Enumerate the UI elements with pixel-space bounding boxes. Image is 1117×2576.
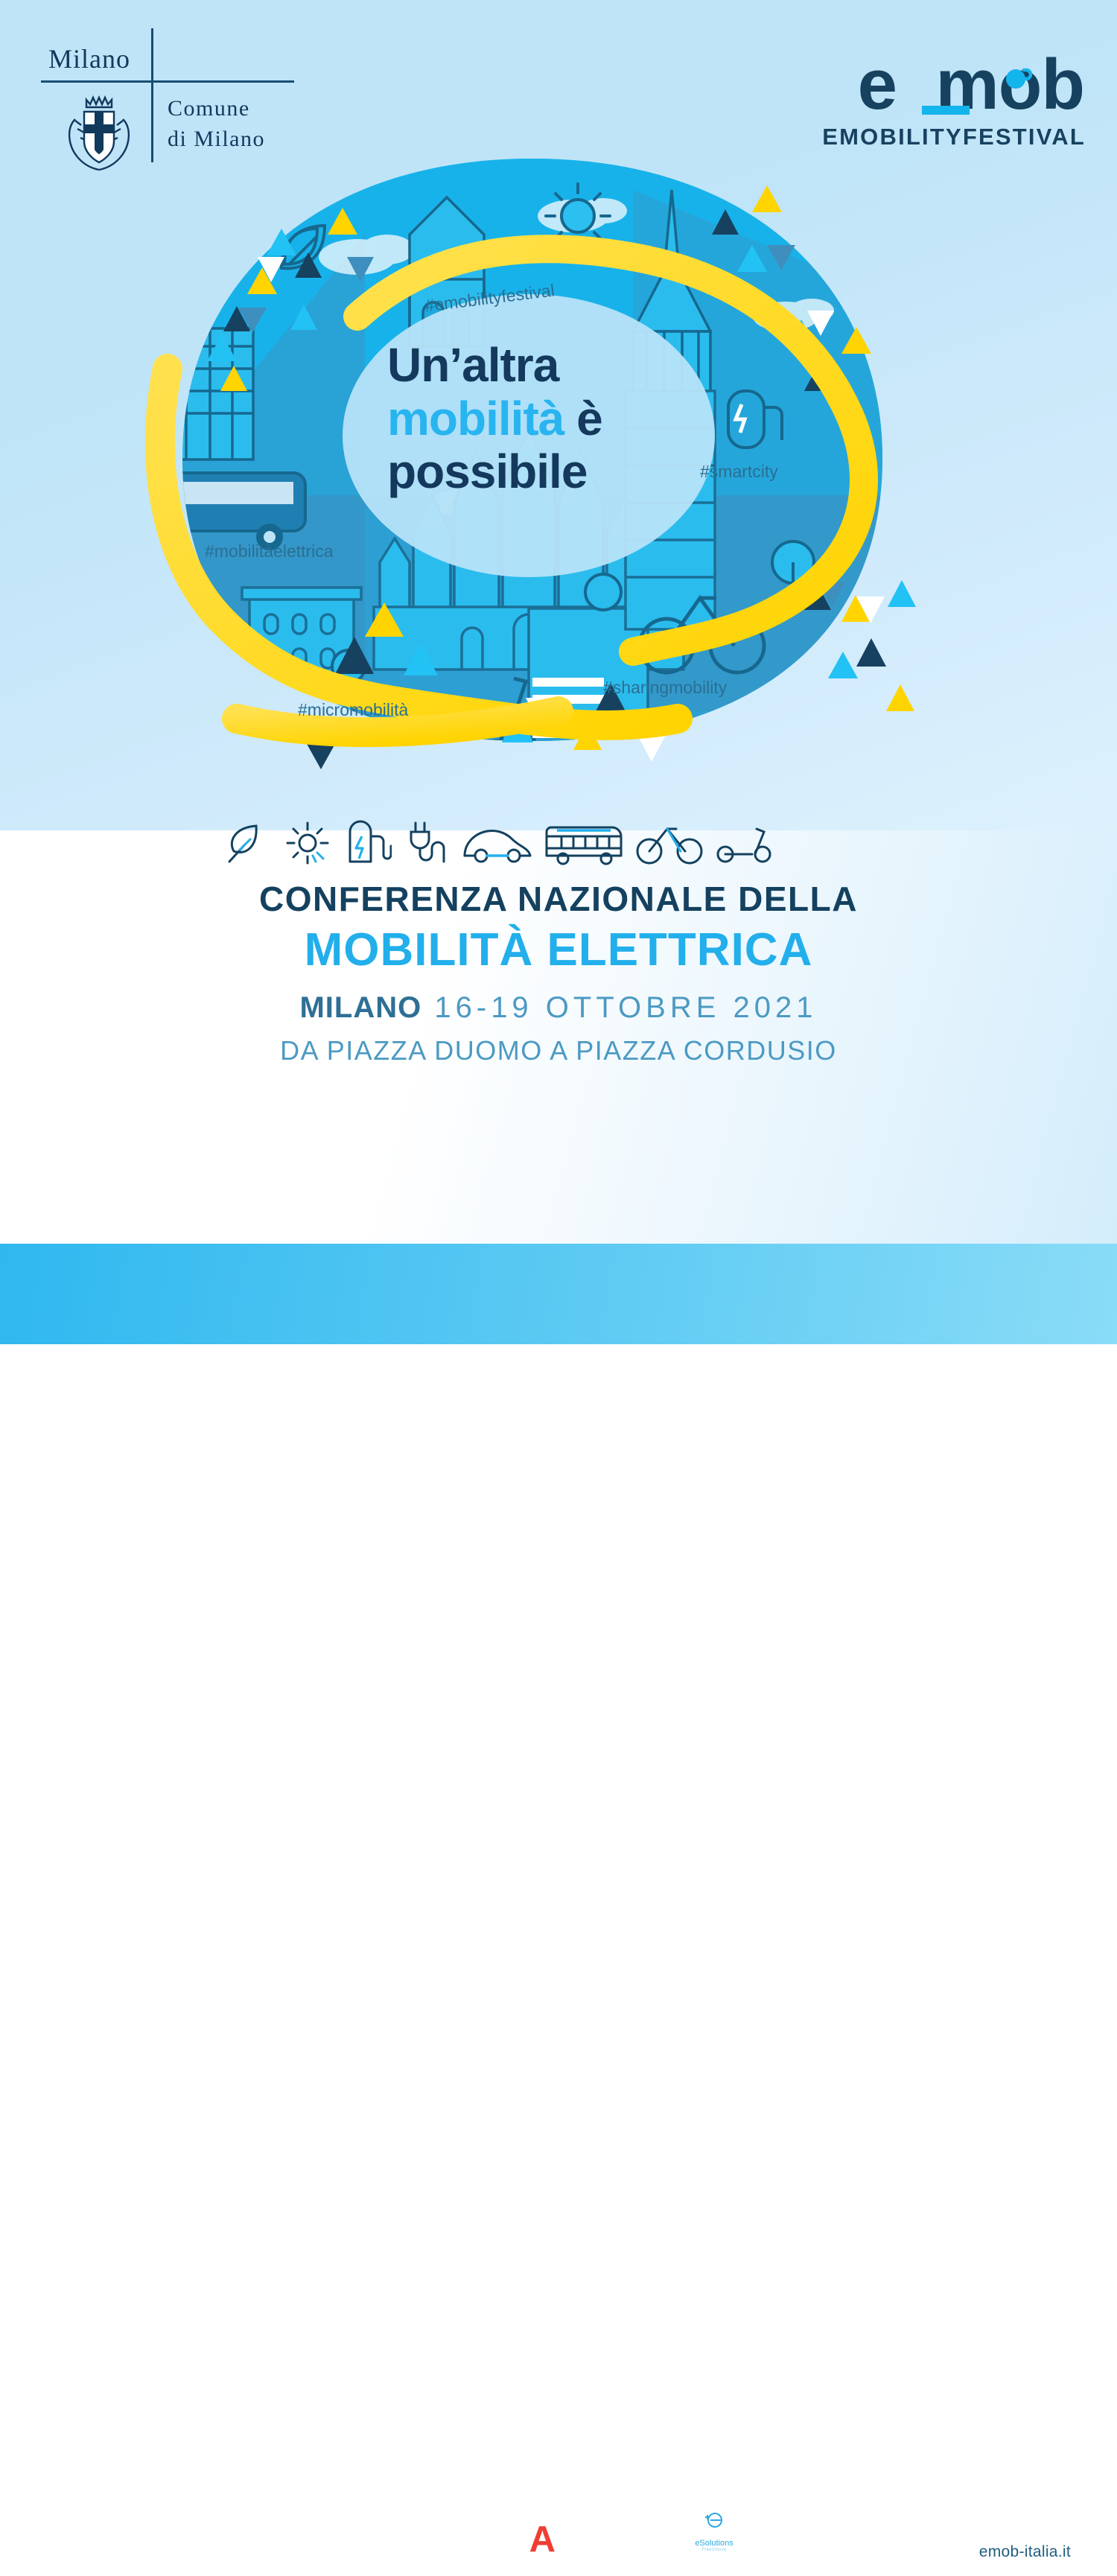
sponsor-footer: STELLANTIS e-MOBILITY BUSINESS UNIT LEAS…	[0, 1244, 1117, 1344]
logo-divider-horizontal	[41, 80, 294, 83]
conference-block: CONFERENZA NAZIONALE DELLA MOBILITÀ ELET…	[0, 879, 1117, 1066]
conference-venue: DA PIAZZA DUOMO A PIAZZA CORDUSIO	[0, 1035, 1117, 1066]
comune-label-line1: Comune	[168, 94, 265, 124]
comune-city-label: Milano	[48, 43, 130, 74]
emob-wordmark: e_mob	[858, 49, 1086, 121]
emob-subtitle: EMOBILITYFESTIVAL	[803, 124, 1086, 150]
hashtag-mobilitaelettrica: #mobilitàelettrica	[205, 541, 334, 562]
slogan-line-1: Un’altra	[387, 339, 745, 392]
comune-di-milano-logo: Milano Comune di Milano	[41, 28, 294, 162]
slogan-line-3: possibile	[387, 445, 745, 499]
electric-car-icon	[462, 818, 533, 868]
leasys-part-b: SYS	[555, 2519, 626, 2560]
esolutions-name: eSolutions	[685, 2539, 743, 2548]
kick-scooter-icon	[715, 818, 774, 868]
hashtag-micromobilita: #micromobilità	[298, 700, 408, 720]
electric-bus-icon	[544, 818, 626, 868]
emob-festival-logo: e_mob EMOBILITYFESTIVAL	[803, 49, 1086, 150]
website-url[interactable]: emob-italia.it	[979, 2543, 1071, 2561]
conference-title-line1: CONFERENZA NAZIONALE DELLA	[0, 879, 1117, 919]
charging-station-icon	[343, 818, 392, 868]
comune-label-line2: di Milano	[168, 124, 265, 155]
plug-icon	[1002, 63, 1032, 92]
emob-underscore-mark	[922, 106, 970, 115]
logo-divider-vertical	[151, 28, 153, 162]
poster-root: #emobilityfestival #smartcity #mobilitàe…	[0, 0, 1117, 1344]
sponsor-esolutions[interactable]: eSolutions Free2move	[685, 2501, 743, 2574]
mobility-icon-row	[223, 813, 774, 873]
conference-city: MILANO	[299, 991, 421, 1024]
slogan-line-2: mobilità è	[387, 392, 745, 446]
hashtag-sharingmobility: #sharingmobility	[603, 678, 727, 698]
stellantis-wordmark: STELLANTIS	[235, 2506, 458, 2538]
leasys-accent-a: A	[529, 2519, 555, 2560]
sponsor-leasys[interactable]: LEASYS	[484, 2519, 633, 2560]
sponsor-stellantis[interactable]: STELLANTIS e-MOBILITY BUSINESS UNIT	[235, 2506, 458, 2565]
milan-coat-of-arms-icon	[62, 89, 136, 173]
leaf-magnifier-icon	[223, 818, 273, 868]
emob-letter-e: e	[858, 45, 897, 124]
conference-dates: 16-19 OTTOBRE 2021	[434, 991, 817, 1024]
bicycle-icon	[636, 818, 704, 868]
sun-icon	[283, 818, 332, 868]
esolutions-e-icon	[701, 2508, 727, 2534]
conference-date-line: MILANO 16-19 OTTOBRE 2021	[0, 991, 1117, 1025]
slogan-line-2-rest: è	[564, 392, 602, 445]
slogan: Un’altra mobilità è possibile	[387, 339, 745, 499]
comune-label: Comune di Milano	[168, 94, 265, 154]
esolutions-tagline: Free2move	[685, 2548, 743, 2552]
slogan-highlight: mobilità	[387, 392, 564, 445]
conference-title-line2: MOBILITÀ ELETTRICA	[0, 923, 1117, 976]
leasys-part-a: LE	[484, 2519, 529, 2560]
plug-cable-icon	[402, 818, 451, 868]
